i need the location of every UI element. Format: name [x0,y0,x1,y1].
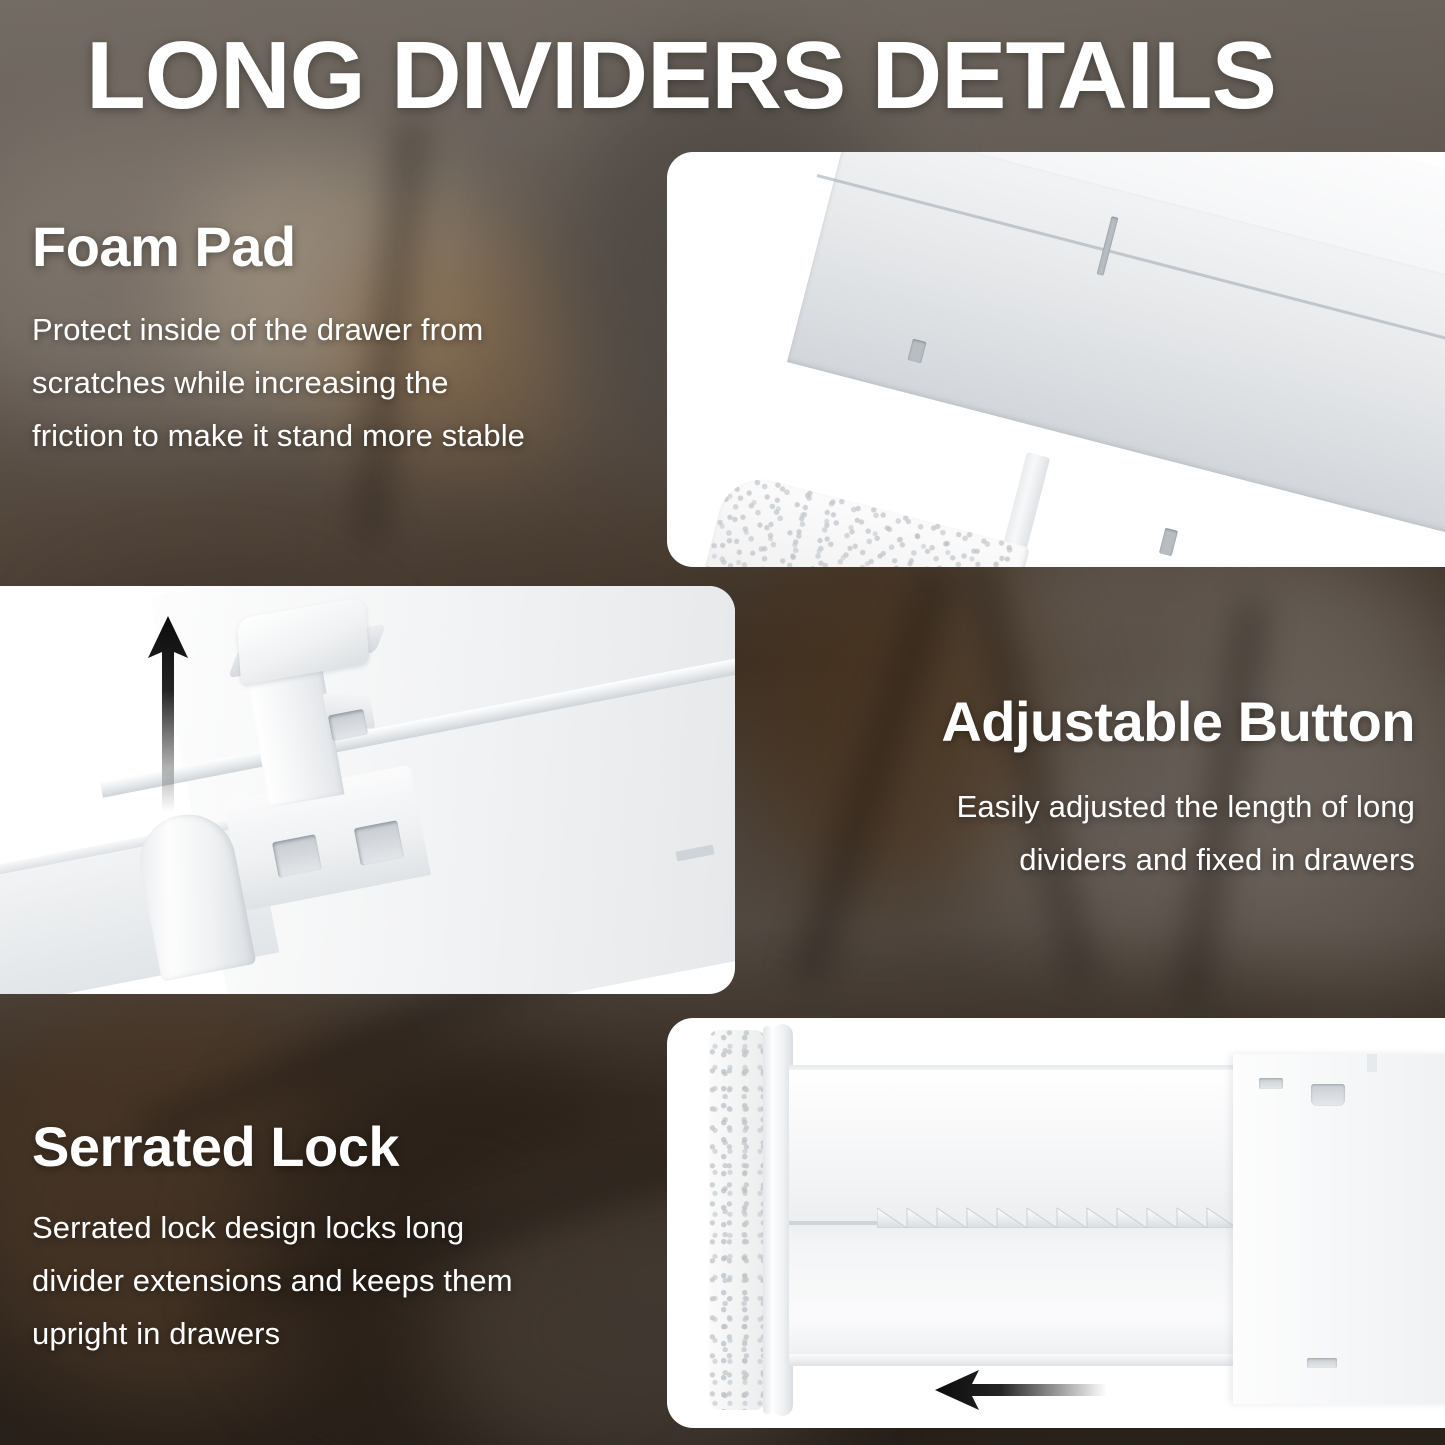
foam-pad-body-line-2: scratches while increasing the [32,356,632,409]
foam-pad-text-block: Foam Pad Protect inside of the drawer fr… [32,215,632,462]
divider-extension-panel [1233,1054,1445,1404]
serrated-lock-body-line-1: Serrated lock design locks long [32,1201,632,1254]
adjustable-button-body-line-2: dividers and fixed in drawers [795,833,1415,886]
arrow-left-icon [935,1370,1107,1410]
adjustable-button-image-card [0,586,735,994]
adjustable-button-heading: Adjustable Button [795,690,1415,754]
page-title: LONG DIVIDERS DETAILS [86,24,1412,128]
arrow-up-icon [146,616,190,812]
foam-pad-body-line-3: friction to make it stand more stable [32,409,632,462]
serrated-lock-heading: Serrated Lock [32,1115,632,1179]
serrated-lock-body-line-3: upright in drawers [32,1307,632,1360]
serrated-teeth [877,1202,1237,1228]
foam-pad-body-line-1: Protect inside of the drawer from [32,303,632,356]
adjustable-button-text-block: Adjustable Button Easily adjusted the le… [795,690,1415,886]
serrated-lock-image-card [667,1018,1445,1428]
serrated-lock-body-line-2: divider extensions and keeps them [32,1254,632,1307]
adjustable-button-product-illustration [0,586,735,994]
foam-pad-product-illustration [667,152,1445,567]
serrated-lock-text-block: Serrated Lock Serrated lock design locks… [32,1115,632,1360]
adjustable-button-body-line-1: Easily adjusted the length of long [795,780,1415,833]
foam-pad-part [684,470,1030,567]
infographic-page: LONG DIVIDERS DETAILS [0,0,1445,1445]
serrated-foam-pad-part [709,1030,765,1410]
foam-pad-heading: Foam Pad [32,215,632,279]
foam-pad-image-card [667,152,1445,567]
serrated-lock-product-illustration [667,1018,1445,1428]
